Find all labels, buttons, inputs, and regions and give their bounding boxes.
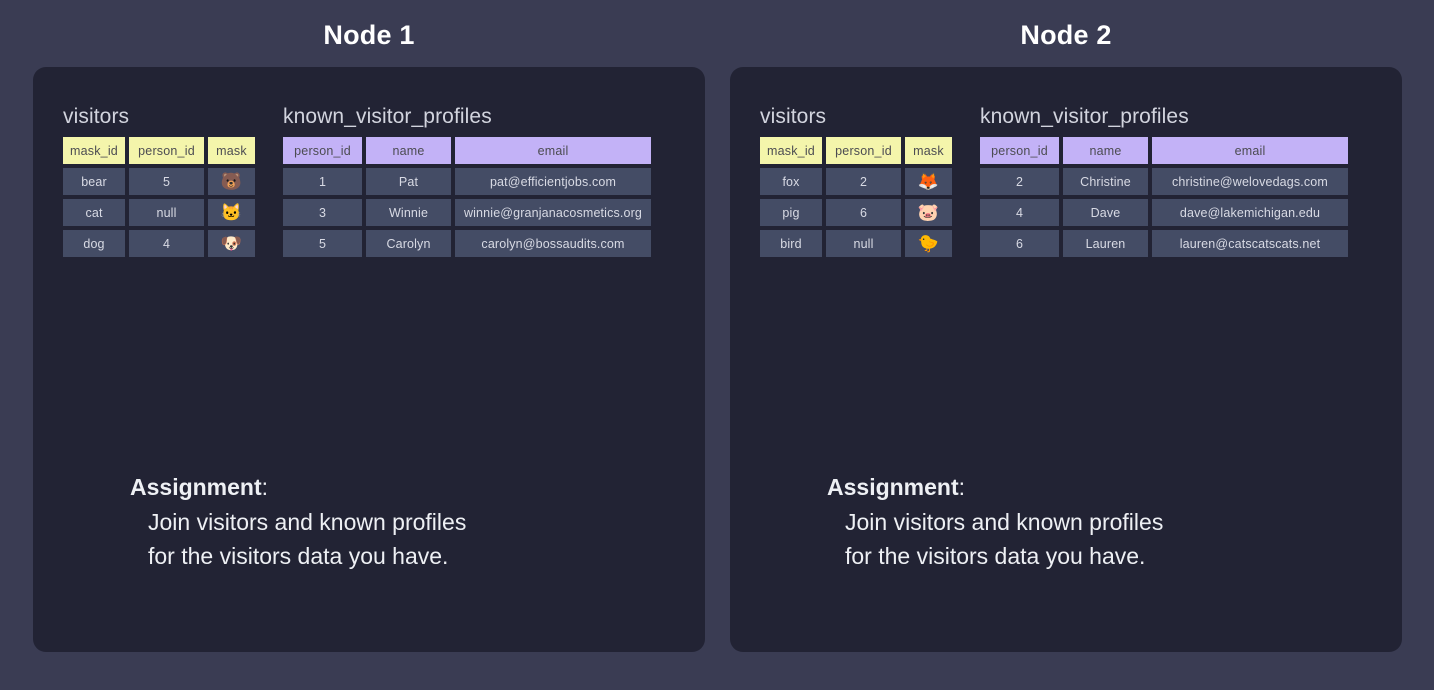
table-row: bear 5 🐻 bbox=[63, 168, 255, 195]
node-title-1: Node 1 bbox=[33, 20, 705, 51]
cell-name: Winnie bbox=[366, 199, 451, 226]
table-row: 1 Pat pat@efficientjobs.com bbox=[283, 168, 651, 195]
assignment-line-2: for the visitors data you have. bbox=[148, 539, 466, 574]
cell-email: dave@lakemichigan.edu bbox=[1152, 199, 1348, 226]
column-header-person-id: person_id bbox=[129, 137, 204, 164]
bear-face-icon: 🐻 bbox=[208, 168, 255, 195]
known-visitor-profiles-table-node2: known_visitor_profiles person_id name em… bbox=[980, 105, 1348, 257]
table-row: bird null 🐤 bbox=[760, 230, 952, 257]
column-header-name: name bbox=[366, 137, 451, 164]
column-header-person-id: person_id bbox=[283, 137, 362, 164]
cell-person-id: 4 bbox=[129, 230, 204, 257]
table-grid: person_id name email 1 Pat pat@efficient… bbox=[283, 137, 651, 257]
table-row: dog 4 🐶 bbox=[63, 230, 255, 257]
node-panel-1: visitors mask_id person_id mask bear 5 🐻… bbox=[33, 67, 705, 652]
table-row: 3 Winnie winnie@granjanacosmetics.org bbox=[283, 199, 651, 226]
table-grid: mask_id person_id mask bear 5 🐻 cat null… bbox=[63, 137, 255, 257]
column-header-email: email bbox=[1152, 137, 1348, 164]
assignment-heading: Assignment: bbox=[827, 470, 1163, 505]
table-caption-visitors: visitors bbox=[760, 105, 952, 129]
cell-name: Dave bbox=[1063, 199, 1148, 226]
diagram-canvas: Node 1 visitors mask_id person_id mask b… bbox=[0, 0, 1434, 690]
fox-face-icon: 🦊 bbox=[905, 168, 952, 195]
assignment-colon: : bbox=[959, 474, 965, 500]
cell-mask-id: bird bbox=[760, 230, 822, 257]
table-row: fox 2 🦊 bbox=[760, 168, 952, 195]
table-header-row: person_id name email bbox=[980, 137, 1348, 164]
table-row: 5 Carolyn carolyn@bossaudits.com bbox=[283, 230, 651, 257]
cell-name: Lauren bbox=[1063, 230, 1148, 257]
cell-person-id: 2 bbox=[826, 168, 901, 195]
table-caption-known-visitor-profiles: known_visitor_profiles bbox=[980, 105, 1348, 129]
table-grid: person_id name email 2 Christine christi… bbox=[980, 137, 1348, 257]
table-header-row: mask_id person_id mask bbox=[63, 137, 255, 164]
cell-mask-id: fox bbox=[760, 168, 822, 195]
assignment-colon: : bbox=[262, 474, 268, 500]
assignment-label: Assignment bbox=[827, 474, 959, 500]
table-row: cat null 🐱 bbox=[63, 199, 255, 226]
assignment-block-node1: Assignment: Join visitors and known prof… bbox=[130, 470, 466, 574]
known-visitor-profiles-table-node1: known_visitor_profiles person_id name em… bbox=[283, 105, 651, 257]
table-caption-visitors: visitors bbox=[63, 105, 255, 129]
cell-person-id: 5 bbox=[283, 230, 362, 257]
cell-person-id: 3 bbox=[283, 199, 362, 226]
pig-face-icon: 🐷 bbox=[905, 199, 952, 226]
cell-mask-id: pig bbox=[760, 199, 822, 226]
cell-person-id: 6 bbox=[826, 199, 901, 226]
column-header-name: name bbox=[1063, 137, 1148, 164]
cell-email: pat@efficientjobs.com bbox=[455, 168, 651, 195]
assignment-text: Join visitors and known profiles for the… bbox=[130, 505, 466, 574]
cat-face-icon: 🐱 bbox=[208, 199, 255, 226]
node-title-2: Node 2 bbox=[730, 20, 1402, 51]
cell-person-id: null bbox=[129, 199, 204, 226]
assignment-line-2: for the visitors data you have. bbox=[845, 539, 1163, 574]
column-header-email: email bbox=[455, 137, 651, 164]
table-header-row: mask_id person_id mask bbox=[760, 137, 952, 164]
table-row: pig 6 🐷 bbox=[760, 199, 952, 226]
table-row: 2 Christine christine@welovedags.com bbox=[980, 168, 1348, 195]
node-panel-2: visitors mask_id person_id mask fox 2 🦊 … bbox=[730, 67, 1402, 652]
cell-name: Pat bbox=[366, 168, 451, 195]
cell-name: Carolyn bbox=[366, 230, 451, 257]
cell-person-id: null bbox=[826, 230, 901, 257]
assignment-text: Join visitors and known profiles for the… bbox=[827, 505, 1163, 574]
dog-face-icon: 🐶 bbox=[208, 230, 255, 257]
column-header-mask-id: mask_id bbox=[760, 137, 822, 164]
table-header-row: person_id name email bbox=[283, 137, 651, 164]
assignment-line-1: Join visitors and known profiles bbox=[845, 505, 1163, 540]
column-header-person-id: person_id bbox=[826, 137, 901, 164]
table-caption-known-visitor-profiles: known_visitor_profiles bbox=[283, 105, 651, 129]
column-header-mask: mask bbox=[905, 137, 952, 164]
cell-person-id: 4 bbox=[980, 199, 1059, 226]
cell-email: carolyn@bossaudits.com bbox=[455, 230, 651, 257]
cell-person-id: 5 bbox=[129, 168, 204, 195]
cell-mask-id: dog bbox=[63, 230, 125, 257]
cell-person-id: 1 bbox=[283, 168, 362, 195]
baby-chick-icon: 🐤 bbox=[905, 230, 952, 257]
visitors-table-node1: visitors mask_id person_id mask bear 5 🐻… bbox=[63, 105, 255, 257]
cell-person-id: 6 bbox=[980, 230, 1059, 257]
assignment-line-1: Join visitors and known profiles bbox=[148, 505, 466, 540]
cell-name: Christine bbox=[1063, 168, 1148, 195]
column-header-person-id: person_id bbox=[980, 137, 1059, 164]
cell-mask-id: cat bbox=[63, 199, 125, 226]
cell-email: winnie@granjanacosmetics.org bbox=[455, 199, 651, 226]
cell-email: lauren@catscatscats.net bbox=[1152, 230, 1348, 257]
column-header-mask-id: mask_id bbox=[63, 137, 125, 164]
column-header-mask: mask bbox=[208, 137, 255, 164]
cell-person-id: 2 bbox=[980, 168, 1059, 195]
table-row: 4 Dave dave@lakemichigan.edu bbox=[980, 199, 1348, 226]
table-row: 6 Lauren lauren@catscatscats.net bbox=[980, 230, 1348, 257]
assignment-heading: Assignment: bbox=[130, 470, 466, 505]
assignment-block-node2: Assignment: Join visitors and known prof… bbox=[827, 470, 1163, 574]
visitors-table-node2: visitors mask_id person_id mask fox 2 🦊 … bbox=[760, 105, 952, 257]
assignment-label: Assignment bbox=[130, 474, 262, 500]
table-grid: mask_id person_id mask fox 2 🦊 pig 6 🐷 b… bbox=[760, 137, 952, 257]
cell-email: christine@welovedags.com bbox=[1152, 168, 1348, 195]
cell-mask-id: bear bbox=[63, 168, 125, 195]
